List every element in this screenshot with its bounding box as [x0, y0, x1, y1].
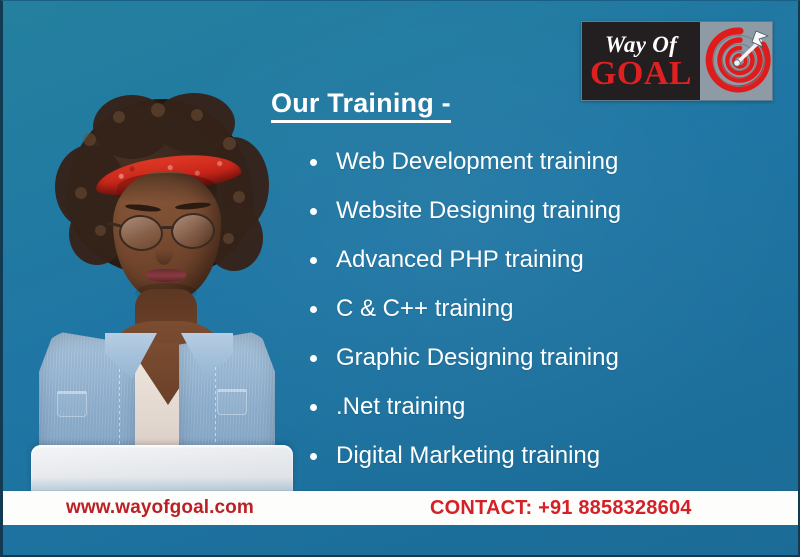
list-item: C & C++ training	[303, 294, 773, 343]
bullet-icon	[310, 159, 317, 166]
logo-way-text: Way Of	[605, 33, 677, 56]
promo-poster: Way Of GOAL	[0, 0, 800, 557]
photo-woman-with-laptop	[9, 93, 301, 493]
hair-curl-icon	[83, 133, 96, 146]
page-title: Our Training -	[271, 89, 451, 123]
bullet-icon	[310, 355, 317, 362]
list-item-label: C & C++ training	[336, 295, 513, 322]
hair-curl-icon	[95, 225, 106, 236]
list-item-label: Digital Marketing training	[336, 442, 600, 469]
bullet-icon	[310, 453, 317, 460]
brand-logo[interactable]: Way Of GOAL	[581, 21, 773, 101]
list-item: Website Designing training	[303, 196, 773, 245]
denim-pocket-right	[217, 389, 247, 415]
hair-curl-icon	[191, 109, 203, 121]
bullet-icon	[310, 208, 317, 215]
list-item-label: Web Development training	[336, 148, 618, 175]
training-list: Web Development training Website Designi…	[303, 147, 773, 490]
denim-pocket-left	[57, 391, 87, 417]
forehead-shading	[117, 173, 217, 203]
hair-curl-icon	[223, 233, 234, 244]
hair-curl-icon	[151, 103, 165, 117]
target-dart-icon	[700, 22, 772, 100]
hair-curl-icon	[75, 187, 87, 199]
list-item: Digital Marketing training	[303, 441, 773, 490]
photo-fade	[9, 453, 301, 493]
contact-phone[interactable]: CONTACT: +91 8858328604	[430, 497, 692, 520]
bullet-icon	[310, 306, 317, 313]
website-link[interactable]: www.wayofgoal.com	[66, 497, 254, 519]
hair-curl-icon	[223, 137, 236, 150]
list-item-label: Advanced PHP training	[336, 246, 584, 273]
logo-goal-text: GOAL	[590, 57, 692, 90]
lips	[146, 269, 186, 282]
list-item: Web Development training	[303, 147, 773, 196]
list-item: Advanced PHP training	[303, 245, 773, 294]
footer-bar: www.wayofgoal.com CONTACT: +91 885832860…	[3, 491, 800, 525]
nose	[155, 239, 173, 265]
hair-curl-icon	[233, 191, 245, 203]
bullet-icon	[310, 257, 317, 264]
hair-curl-icon	[113, 111, 125, 123]
list-item-label: Graphic Designing training	[336, 344, 619, 371]
logo-wordmark: Way Of GOAL	[582, 22, 700, 100]
glasses-bridge	[161, 226, 174, 229]
bullet-icon	[310, 404, 317, 411]
list-item-label: Website Designing training	[336, 197, 621, 224]
list-item: .Net training	[303, 392, 773, 441]
list-item-label: .Net training	[336, 393, 465, 420]
list-item: Graphic Designing training	[303, 343, 773, 392]
